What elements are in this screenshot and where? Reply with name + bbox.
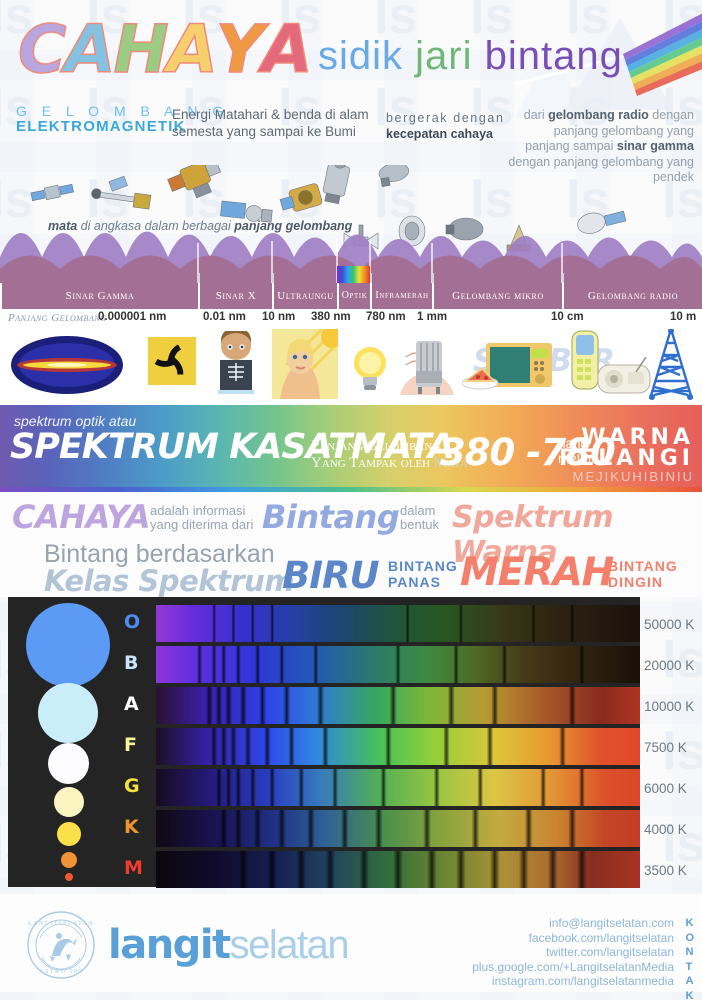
telescope-icon	[321, 165, 352, 205]
mid-bintang-dingin: BINTANG DINGIN	[608, 558, 678, 590]
brand-wordmark[interactable]: langitselatan	[108, 922, 348, 968]
em-band-label: Gelombang radio	[564, 283, 702, 309]
blurb3-line1: bergerak dengan	[386, 110, 506, 126]
wavelength-tick-2: 10 nm	[262, 311, 295, 323]
infographic-page: C A H A Y A sidik jari bintang G E L O M…	[0, 0, 702, 1000]
wavelength-scale-title: Panjang Gelombang	[8, 312, 106, 324]
temp-label-k: 4000 K	[644, 822, 687, 837]
mid-dalam-line2: bentuk	[400, 518, 439, 532]
em-band-label: Optik	[339, 283, 370, 309]
satellite-icon	[30, 182, 74, 202]
em-spectrum-bar: Sinar Gamma Sinar X Ultraungu Optik Infr…	[0, 283, 702, 309]
class-letter-f: F	[124, 734, 137, 756]
wavelength-tick-6: 10 cm	[551, 311, 584, 323]
contact-instagram[interactable]: instagram.com/langitselatanmedia	[472, 974, 674, 989]
mid-dalam-line1: dalam	[400, 504, 439, 518]
class-letter-o: O	[124, 611, 140, 633]
radiation-hazard-icon	[148, 337, 196, 385]
title-letter-4: Y	[216, 18, 262, 82]
spectrum-strip-g	[156, 769, 640, 806]
contact-gplus[interactable]: plus.google.com/+LangitselatanMedia	[472, 960, 674, 975]
spectrum-strip-o	[156, 605, 640, 642]
spectrum-strip-f	[156, 728, 640, 765]
subtitle-word-sidik: sidik	[318, 34, 403, 78]
blurb3-line2: kecepatan cahaya	[386, 127, 493, 141]
spectral-class-chart: O B A F G K M 50000 K 20000 K 10000 K 75…	[0, 597, 702, 894]
bintang-dingin-line2: DINGIN	[608, 574, 678, 590]
blurb-kecepatan-cahaya: bergerak dengan kecepatan cahaya	[386, 110, 506, 142]
heater-infrared-icon	[398, 333, 456, 395]
class-letter-a: A	[124, 693, 139, 715]
blurb4-part-3: sinar gamma	[617, 139, 694, 153]
wavelength-tick-4: 780 nm	[366, 311, 406, 323]
satcaption-bold-1: mata	[48, 219, 77, 233]
star-disc-k2	[61, 852, 77, 868]
rainbow-mnemonic: MEJIKUHIBINIU	[559, 469, 694, 485]
bintang-panas-line1: BINTANG	[388, 558, 458, 574]
uv-sunbathing-icon	[272, 329, 338, 399]
kontak-letter: N	[685, 945, 694, 960]
satcaption-mid: di angkasa dalam berbagai	[77, 219, 234, 233]
em-band-gelombang-mikro[interactable]: Gelombang mikro	[432, 283, 562, 309]
telescope-icon	[278, 183, 323, 215]
contact-twitter[interactable]: twitter.com/langitselatan	[472, 945, 674, 960]
bintang-panas-line2: PANAS	[388, 574, 458, 590]
em-band-sinar-x[interactable]: Sinar X	[198, 283, 272, 309]
title-letter-2: H	[114, 18, 167, 82]
title-letter-1: A	[64, 18, 113, 82]
lightbulb-icon	[348, 343, 392, 393]
title-letter-5: A	[262, 18, 311, 82]
spectrum-strip-a	[156, 687, 640, 724]
xray-child-icon	[210, 331, 262, 397]
spectrum-strip-m	[156, 851, 640, 888]
mid-text-section: CAHAYA adalah informasi yang diterima da…	[0, 492, 702, 597]
absorption-lines	[156, 851, 640, 888]
star-disc-m	[65, 873, 73, 881]
page-subtitle: sidik jari bintang	[318, 34, 623, 79]
absorption-lines	[156, 810, 640, 847]
visible-spectrum-chip-icon	[337, 266, 370, 283]
bintang-dingin-line1: BINTANG	[608, 558, 678, 574]
star-disc-a	[38, 683, 98, 743]
subtitle-word-bintang: bintang	[485, 34, 623, 78]
contact-list: info@langitselatan.com facebook.com/lang…	[472, 916, 674, 989]
satellites-caption: mata di angkasa dalam berbagai panjang g…	[48, 219, 352, 233]
em-band-ultraungu[interactable]: Ultraungu	[272, 283, 337, 309]
temp-label-f: 7500 K	[644, 740, 687, 755]
blurb-energi-matahari: Energi Matahari & benda di alam semesta …	[172, 106, 377, 140]
wavelength-tick-1: 0.01 nm	[203, 311, 246, 323]
mid-dalam-bentuk: dalam bentuk	[400, 504, 439, 532]
em-band-sinar-gamma[interactable]: Sinar Gamma	[0, 283, 198, 309]
mid-cahaya: CAHAYA	[12, 498, 150, 536]
mid-adalah-line1: adalah informasi	[150, 504, 253, 518]
temp-label-a: 10000 K	[644, 699, 694, 714]
contact-facebook[interactable]: facebook.com/langitselatan	[472, 931, 674, 946]
em-band-label: Sinar Gamma	[2, 283, 198, 309]
spectrum-strip-k	[156, 810, 640, 847]
dish-antenna-icon	[575, 205, 626, 236]
mid-kelas-spektrum: Kelas Spektrum	[44, 564, 294, 598]
em-band-gelombang-radio[interactable]: Gelombang radio	[562, 283, 702, 309]
mid-adalah-informasi: adalah informasi yang diterima dari	[150, 504, 253, 532]
em-band-optik[interactable]: Optik	[337, 283, 370, 309]
mid-merah: MERAH	[460, 550, 613, 595]
wavelength-tick-5: 1 mm	[417, 311, 447, 323]
em-band-label: Sinar X	[200, 283, 272, 309]
visible-spectrum-banner: spektrum optik atau SPEKTRUM KASATMATA P…	[0, 405, 702, 487]
brand-bold: langit	[108, 922, 230, 968]
title-letter-3: A	[167, 18, 216, 82]
class-letter-k: K	[124, 816, 139, 838]
star-disc-o	[26, 603, 110, 687]
page-title: C A H A Y A	[18, 18, 311, 82]
star-disc-k	[57, 822, 81, 846]
rainbow-line1: WARNA	[559, 427, 694, 448]
mid-bintang-panas: BINTANG PANAS	[388, 558, 458, 590]
mid-bintang: Bintang	[262, 498, 399, 536]
contact-email[interactable]: info@langitselatan.com	[472, 916, 674, 931]
footer-section: LANGITSELATAN ASTRO 101 langitselatan in…	[0, 894, 702, 992]
temp-label-m: 3500 K	[644, 863, 687, 878]
kontak-letter: O	[685, 931, 694, 946]
blurb4-part-1: gelombang radio	[548, 108, 649, 122]
em-band-label: Inframerah	[372, 283, 432, 309]
radio-tower-icon	[644, 329, 698, 401]
blurb4-part-0: dari	[524, 108, 548, 122]
class-letter-g: G	[124, 775, 140, 797]
satcaption-bold-2: panjang gelombang	[234, 219, 352, 233]
rainbow-colors-label: WARNA PELANGI MEJIKUHIBINIU	[559, 427, 694, 485]
star-disc-g	[54, 787, 84, 817]
star-disc-f	[48, 743, 89, 784]
langitselatan-seal-logo: LANGITSELATAN ASTRO 101	[26, 910, 96, 980]
satellite-icon	[446, 218, 483, 240]
visible-caption-line2a: Yang Tampak oleh	[311, 455, 434, 471]
microwave-oven-icon	[462, 341, 554, 391]
temp-label-b: 20000 K	[644, 658, 694, 673]
kontak-letter: K	[685, 916, 694, 931]
em-sources-row: SUMBER	[0, 329, 702, 405]
title-letter-0: C	[18, 18, 64, 82]
telescope-icon	[166, 165, 226, 205]
absorption-lines	[156, 769, 640, 806]
em-band-label: Ultraungu	[274, 283, 337, 309]
mid-adalah-line2: yang diterima dari	[150, 518, 253, 532]
wavelength-tick-0: 0.000001 nm	[98, 311, 166, 323]
seal-bottom-text: ASTRO 101	[39, 968, 83, 975]
kontak-letter: A	[685, 974, 694, 989]
gamma-sky-map-icon	[10, 335, 125, 395]
kontak-letter: T	[685, 960, 694, 975]
temp-label-o: 50000 K	[644, 617, 694, 632]
class-letter-m: M	[124, 857, 143, 879]
kontak-vertical-label: KONTAK	[685, 916, 694, 1003]
spectrum-strip-b	[156, 646, 640, 683]
wavelength-scale-row: Panjang Gelombang 0.000001 nm 0.01 nm 10…	[0, 309, 702, 329]
absorption-lines	[156, 605, 640, 642]
wavelength-tick-3: 380 nm	[311, 311, 351, 323]
header-section: C A H A Y A sidik jari bintang G E L O M…	[0, 0, 702, 165]
seal-top-text: LANGITSELATAN	[28, 920, 94, 927]
mid-biru: BIRU	[282, 554, 379, 597]
temp-label-g: 6000 K	[644, 781, 687, 796]
space-telescope-icon	[378, 165, 411, 187]
em-band-inframerah[interactable]: Inframerah	[370, 283, 432, 309]
wavelength-tick-7: 10 m	[670, 311, 696, 323]
kontak-letter: K	[685, 989, 694, 1003]
satellite-icon	[90, 172, 152, 209]
class-letter-b: B	[124, 652, 138, 674]
subtitle-word-jari: jari	[415, 34, 472, 78]
brand-light: selatan	[230, 923, 348, 967]
absorption-lines	[156, 728, 640, 765]
absorption-lines	[156, 687, 640, 724]
absorption-lines	[156, 646, 640, 683]
rainbow-line2: PELANGI	[559, 448, 694, 469]
em-band-label: Gelombang mikro	[434, 283, 562, 309]
